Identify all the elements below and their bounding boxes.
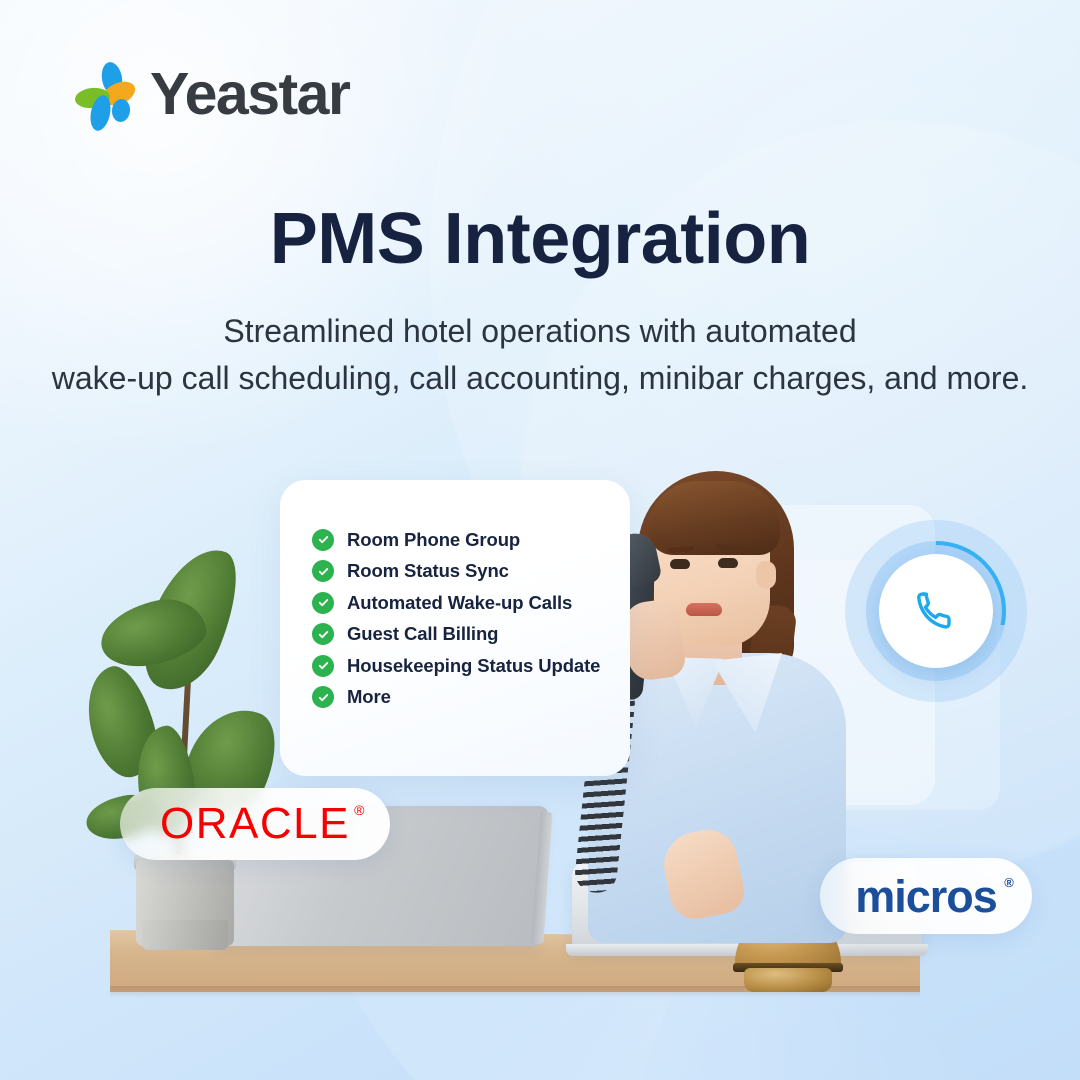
plant-pot-base bbox=[142, 920, 228, 950]
feature-list-card: Room Phone Group Room Status Sync Automa… bbox=[280, 480, 630, 776]
check-circle-icon bbox=[312, 655, 334, 677]
list-item-label: Automated Wake-up Calls bbox=[347, 592, 572, 614]
list-item[interactable]: Automated Wake-up Calls bbox=[312, 587, 630, 619]
check-glyph bbox=[317, 596, 330, 609]
check-circle-icon bbox=[312, 529, 334, 551]
eye-left bbox=[670, 559, 690, 569]
list-item-label: Guest Call Billing bbox=[347, 623, 498, 645]
partner-badge-oracle[interactable]: ORACLE® bbox=[120, 788, 390, 860]
oracle-logo-icon: ORACLE® bbox=[160, 802, 350, 846]
list-item[interactable]: More bbox=[312, 682, 630, 714]
list-item[interactable]: Room Status Sync bbox=[312, 556, 630, 588]
check-glyph bbox=[317, 533, 330, 546]
micros-logo-icon: micros® bbox=[855, 874, 997, 919]
phone-handset-icon bbox=[912, 587, 960, 635]
list-item[interactable]: Room Phone Group bbox=[312, 524, 630, 556]
check-circle-icon bbox=[312, 686, 334, 708]
poster-canvas: Yeastar PMS Integration Streamlined hote… bbox=[0, 0, 1080, 1080]
check-circle-icon bbox=[312, 623, 334, 645]
check-circle-icon bbox=[312, 560, 334, 582]
list-item-label: Room Status Sync bbox=[347, 560, 509, 582]
list-item-label: Housekeeping Status Update bbox=[347, 655, 600, 677]
list-item-label: More bbox=[347, 686, 391, 708]
lips bbox=[686, 603, 722, 616]
list-item[interactable]: Housekeeping Status Update bbox=[312, 650, 630, 682]
micros-registered-mark: ® bbox=[1004, 876, 1013, 889]
oracle-registered-mark: ® bbox=[354, 803, 366, 817]
ear bbox=[756, 561, 776, 589]
feature-list: Room Phone Group Room Status Sync Automa… bbox=[312, 524, 630, 713]
check-glyph bbox=[317, 628, 330, 641]
oracle-wordmark: ORACLE bbox=[160, 799, 350, 848]
check-glyph bbox=[317, 565, 330, 578]
partner-badge-micros[interactable]: micros® bbox=[820, 858, 1032, 934]
fiddle-leaf-plant bbox=[92, 548, 282, 968]
hair-front bbox=[648, 481, 780, 555]
list-item[interactable]: Guest Call Billing bbox=[312, 619, 630, 651]
call-badge[interactable] bbox=[879, 554, 993, 668]
hero-scene: Room Phone Group Room Status Sync Automa… bbox=[0, 0, 1080, 1080]
service-bell-base bbox=[744, 968, 832, 992]
check-circle-icon bbox=[312, 592, 334, 614]
micros-wordmark: micros bbox=[855, 871, 997, 922]
check-glyph bbox=[317, 659, 330, 672]
check-glyph bbox=[317, 691, 330, 704]
list-item-label: Room Phone Group bbox=[347, 529, 520, 551]
eye-right bbox=[718, 558, 738, 568]
